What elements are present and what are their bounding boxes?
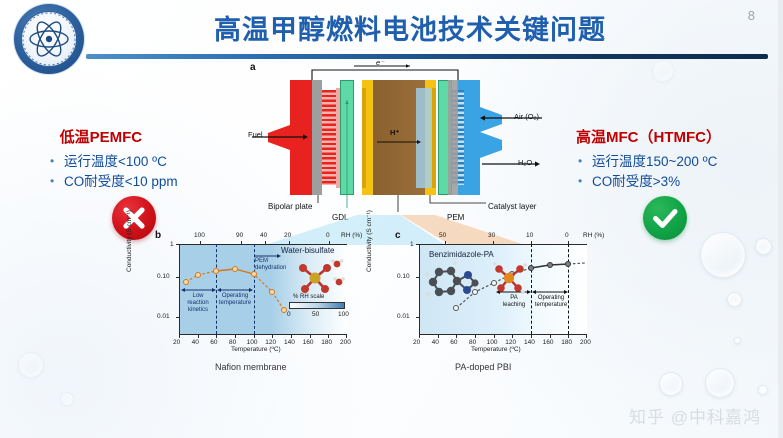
phosphoric-acid-molecule-icon <box>491 260 537 300</box>
panel-b-y-axis-title: Conductivity (S cm⁻¹) <box>125 210 133 272</box>
decor-bubble <box>700 232 746 278</box>
figure-composite: a e⁻ <box>145 60 640 390</box>
panel-b-chart: b 20 40 60 80 100 120 140 160 <box>153 230 358 355</box>
panel-c-molecule-name: Benzimidazole-PA <box>429 250 494 259</box>
decor-bubble <box>755 238 772 255</box>
panel-c-annotation-operating: Operating temperature <box>532 295 570 309</box>
watermark: 知乎 @中科嘉鸿 <box>629 403 761 428</box>
panel-c-y-axis-title: Conductivity (S cm⁻¹) <box>365 210 373 272</box>
decor-bubble <box>659 372 683 396</box>
decor-bubble <box>18 352 44 378</box>
institute-atom-logo <box>14 4 84 74</box>
right-edge-strip <box>778 0 783 438</box>
panel-b-annotation-dehydration: PEM dehydration <box>255 258 287 272</box>
page-number: 8 <box>748 8 755 23</box>
catalyst-layer-label: Catalyst layer <box>488 202 536 211</box>
page-title: 高温甲醇燃料电池技术关键问题 <box>150 9 670 51</box>
water-bisulfate-molecule-icon <box>289 258 345 294</box>
title-underline-rule <box>86 54 768 59</box>
decor-bubble <box>652 60 674 82</box>
colorbar-tick-label: 0 <box>287 311 291 318</box>
slide-canvas: 高温甲醇燃料电池技术关键问题 8 低温PEMFC 运行温度<100 ºC CO耐… <box>0 0 783 438</box>
decor-bubble <box>60 392 74 406</box>
benzimidazole-molecule-icon <box>425 262 495 308</box>
decor-bubble <box>705 368 735 398</box>
decor-bubble <box>734 337 741 344</box>
panel-b-caption: Nafion membrane <box>215 362 287 372</box>
check-mark-icon <box>643 196 687 240</box>
panel-b-annotation-low-kinetics: Low reaction kinetics <box>181 293 215 314</box>
panel-c-caption: PA-doped PBI <box>455 362 511 372</box>
panel-c-chart: c 20 40 60 80 100 120 140 160 180 200 <box>393 230 608 355</box>
panel-b-rh-colorbar <box>289 302 345 309</box>
colorbar-tick-label: 100 <box>338 311 349 318</box>
decor-bubble <box>758 385 768 395</box>
bipolar-plate-label: Bipolar plate <box>268 202 312 211</box>
label-leader-lines <box>250 60 550 220</box>
panel-a-fuel-cell-schematic: a e⁻ <box>250 60 550 210</box>
panel-b-annotation-operating: Operating temperature <box>217 293 253 307</box>
check-glyph <box>643 196 687 240</box>
atom-icon <box>14 4 84 74</box>
decor-bubble <box>727 292 742 307</box>
panel-b-colorbar-title: % RH scale <box>293 294 324 300</box>
panel-b-molecule-name: Water-bisulfate <box>281 246 335 255</box>
colorbar-tick-label: 50 <box>312 311 319 318</box>
